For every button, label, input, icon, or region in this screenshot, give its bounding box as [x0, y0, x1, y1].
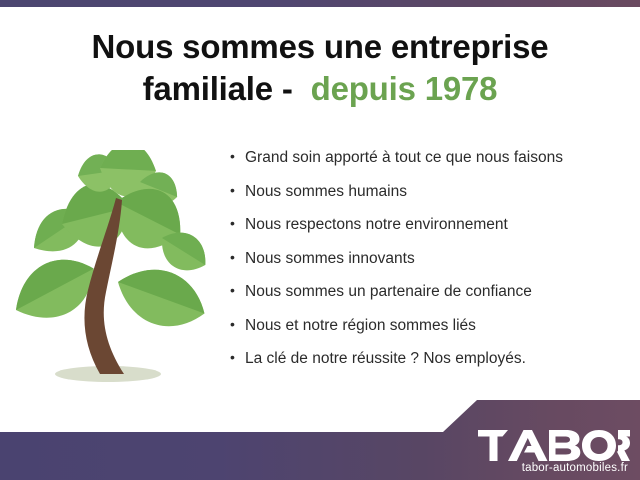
list-item: Grand soin apporté à tout ce que nous fa…	[228, 148, 628, 167]
logo-tagline: tabor-automobiles.fr	[470, 462, 630, 474]
headline-accent: depuis 1978	[311, 70, 498, 107]
headline-line-2: familiale - depuis 1978	[0, 68, 640, 110]
tabor-wordmark-icon	[478, 430, 630, 461]
tabor-logo: tabor-automobiles.fr	[470, 430, 630, 474]
headline-line-2-main: familiale -	[143, 70, 293, 107]
tree-illustration	[8, 150, 223, 390]
headline-line-1: Nous sommes une entreprise	[0, 26, 640, 68]
list-item: Nous sommes humains	[228, 182, 628, 201]
list-item: Nous et notre région sommes liés	[228, 316, 628, 335]
slide-canvas: Nous sommes une entreprise familiale - d…	[0, 0, 640, 480]
list-item: Nous respectons notre environnement	[228, 215, 628, 234]
benefits-list: Grand soin apporté à tout ce que nous fa…	[228, 148, 628, 383]
list-item: Nous sommes un partenaire de confiance	[228, 282, 628, 301]
leaf-right-large	[109, 257, 214, 339]
page-title: Nous sommes une entreprise familiale - d…	[0, 26, 640, 110]
list-item: Nous sommes innovants	[228, 249, 628, 268]
list-item: La clé de notre réussite ? Nos employés.	[228, 349, 628, 368]
top-accent-bar	[0, 0, 640, 7]
